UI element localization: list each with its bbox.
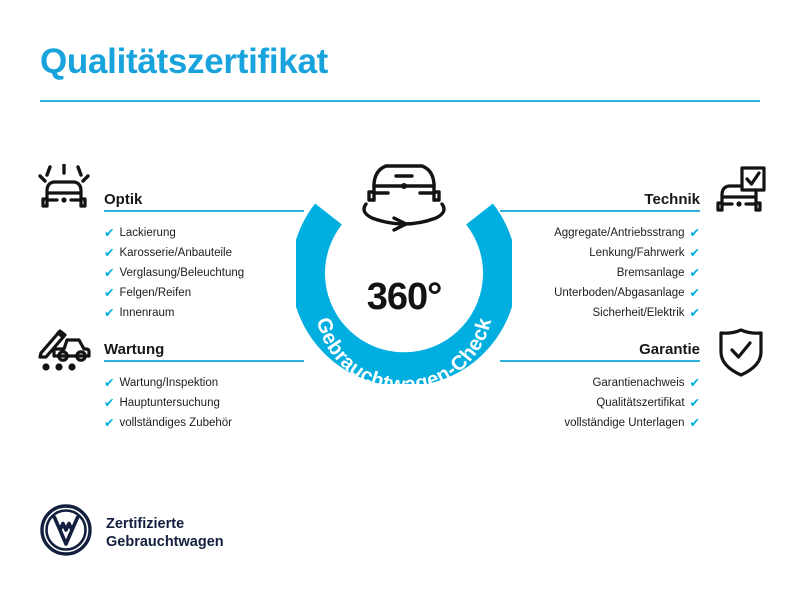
section-technik: Technik Aggregate/Antriebsstrang✔ Lenkun… <box>500 182 700 323</box>
check-icon: ✔ <box>690 287 700 300</box>
list-item-label: Unterboden/Abgasanlage <box>554 283 684 303</box>
check-icon: ✔ <box>104 247 114 260</box>
section-divider <box>500 210 700 212</box>
list-item-label: Felgen/Reifen <box>119 283 191 303</box>
list-item-label: Garantienachweis <box>592 373 684 393</box>
vw-logo <box>40 504 92 561</box>
section-header: Wartung <box>104 332 304 362</box>
check-icon: ✔ <box>104 267 114 280</box>
list-item-label: Sicherheit/Elektrik <box>592 303 684 323</box>
check-icon: ✔ <box>104 417 114 430</box>
list-item: vollständige Unterlagen✔ <box>500 413 700 433</box>
list-item: ✔Karosserie/Anbauteile <box>104 243 304 263</box>
footer-brand: Zertifizierte Gebrauchtwagen <box>40 504 224 561</box>
footer-line-2: Gebrauchtwagen <box>106 533 224 551</box>
check-icon: ✔ <box>690 247 700 260</box>
list-item: Lenkung/Fahrwerk✔ <box>500 243 700 263</box>
check-icon: ✔ <box>104 397 114 410</box>
quality-certificate-page: Qualitätszertifikat Optik <box>0 0 800 600</box>
check-icon: ✔ <box>690 417 700 430</box>
list-item-label: Qualitätszertifikat <box>596 393 684 413</box>
car-dipstick-oil-icon <box>34 324 92 379</box>
check-icon: ✔ <box>690 267 700 280</box>
list-item-label: vollständige Unterlagen <box>564 413 684 433</box>
section-divider <box>500 360 700 362</box>
shield-check-icon <box>716 326 766 383</box>
list-item: Garantienachweis✔ <box>500 373 700 393</box>
checklist-wartung: ✔Wartung/Inspektion ✔Hauptuntersuchung ✔… <box>104 373 304 433</box>
list-item-label: Karosserie/Anbauteile <box>119 243 232 263</box>
check-icon: ✔ <box>690 227 700 240</box>
list-item-label: Bremsanlage <box>617 263 685 283</box>
list-item-label: Lenkung/Fahrwerk <box>589 243 684 263</box>
list-item-label: Verglasung/Beleuchtung <box>119 263 244 283</box>
section-header: Garantie <box>500 332 700 362</box>
list-item-label: Innenraum <box>119 303 174 323</box>
list-item: ✔Hauptuntersuchung <box>104 393 304 413</box>
list-item-label: Wartung/Inspektion <box>119 373 218 393</box>
list-item: ✔Wartung/Inspektion <box>104 373 304 393</box>
car-shine-icon <box>36 164 92 217</box>
check-icon: ✔ <box>104 227 114 240</box>
footer-line-1: Zertifizierte <box>106 515 224 533</box>
section-wartung: Wartung ✔Wartung/Inspektion ✔Hauptunters… <box>104 332 304 433</box>
section-header: Technik <box>500 182 700 212</box>
car-checkbox-icon <box>712 166 766 219</box>
check-icon: ✔ <box>690 307 700 320</box>
360-degree-check-badge: Gebrauchtwagen-Check 360° <box>296 152 512 384</box>
check-icon: ✔ <box>690 397 700 410</box>
title-divider <box>40 100 760 102</box>
list-item-label: Hauptuntersuchung <box>119 393 219 413</box>
list-item-label: vollständiges Zubehör <box>119 413 232 433</box>
section-divider <box>104 210 304 212</box>
section-garantie: Garantie Garantienachweis✔ Qualitätszert… <box>500 332 700 433</box>
check-icon: ✔ <box>104 377 114 390</box>
list-item-label: Lackierung <box>119 223 175 243</box>
list-item-label: Aggregate/Antriebsstrang <box>554 223 684 243</box>
list-item: ✔Lackierung <box>104 223 304 243</box>
check-icon: ✔ <box>104 287 114 300</box>
section-title: Wartung <box>104 341 164 358</box>
section-divider <box>104 360 304 362</box>
list-item: ✔vollständiges Zubehör <box>104 413 304 433</box>
page-title: Qualitätszertifikat <box>40 42 328 82</box>
list-item: Qualitätszertifikat✔ <box>500 393 700 413</box>
list-item: Unterboden/Abgasanlage✔ <box>500 283 700 303</box>
list-item: ✔Innenraum <box>104 303 304 323</box>
list-item: Sicherheit/Elektrik✔ <box>500 303 700 323</box>
check-icon: ✔ <box>690 377 700 390</box>
badge-value: 360° <box>296 276 512 319</box>
footer-text: Zertifizierte Gebrauchtwagen <box>106 515 224 551</box>
checklist-garantie: Garantienachweis✔ Qualitätszertifikat✔ v… <box>500 373 700 433</box>
list-item: ✔Verglasung/Beleuchtung <box>104 263 304 283</box>
section-title: Optik <box>104 191 142 208</box>
section-optik: Optik ✔Lackierung ✔Karosserie/Anbauteile… <box>104 182 304 323</box>
list-item: Aggregate/Antriebsstrang✔ <box>500 223 700 243</box>
checklist-technik: Aggregate/Antriebsstrang✔ Lenkung/Fahrwe… <box>500 223 700 323</box>
section-header: Optik <box>104 182 304 212</box>
list-item: ✔Felgen/Reifen <box>104 283 304 303</box>
checklist-optik: ✔Lackierung ✔Karosserie/Anbauteile ✔Verg… <box>104 223 304 323</box>
check-icon: ✔ <box>104 307 114 320</box>
section-title: Technik <box>644 191 700 208</box>
list-item: Bremsanlage✔ <box>500 263 700 283</box>
section-title: Garantie <box>639 341 700 358</box>
